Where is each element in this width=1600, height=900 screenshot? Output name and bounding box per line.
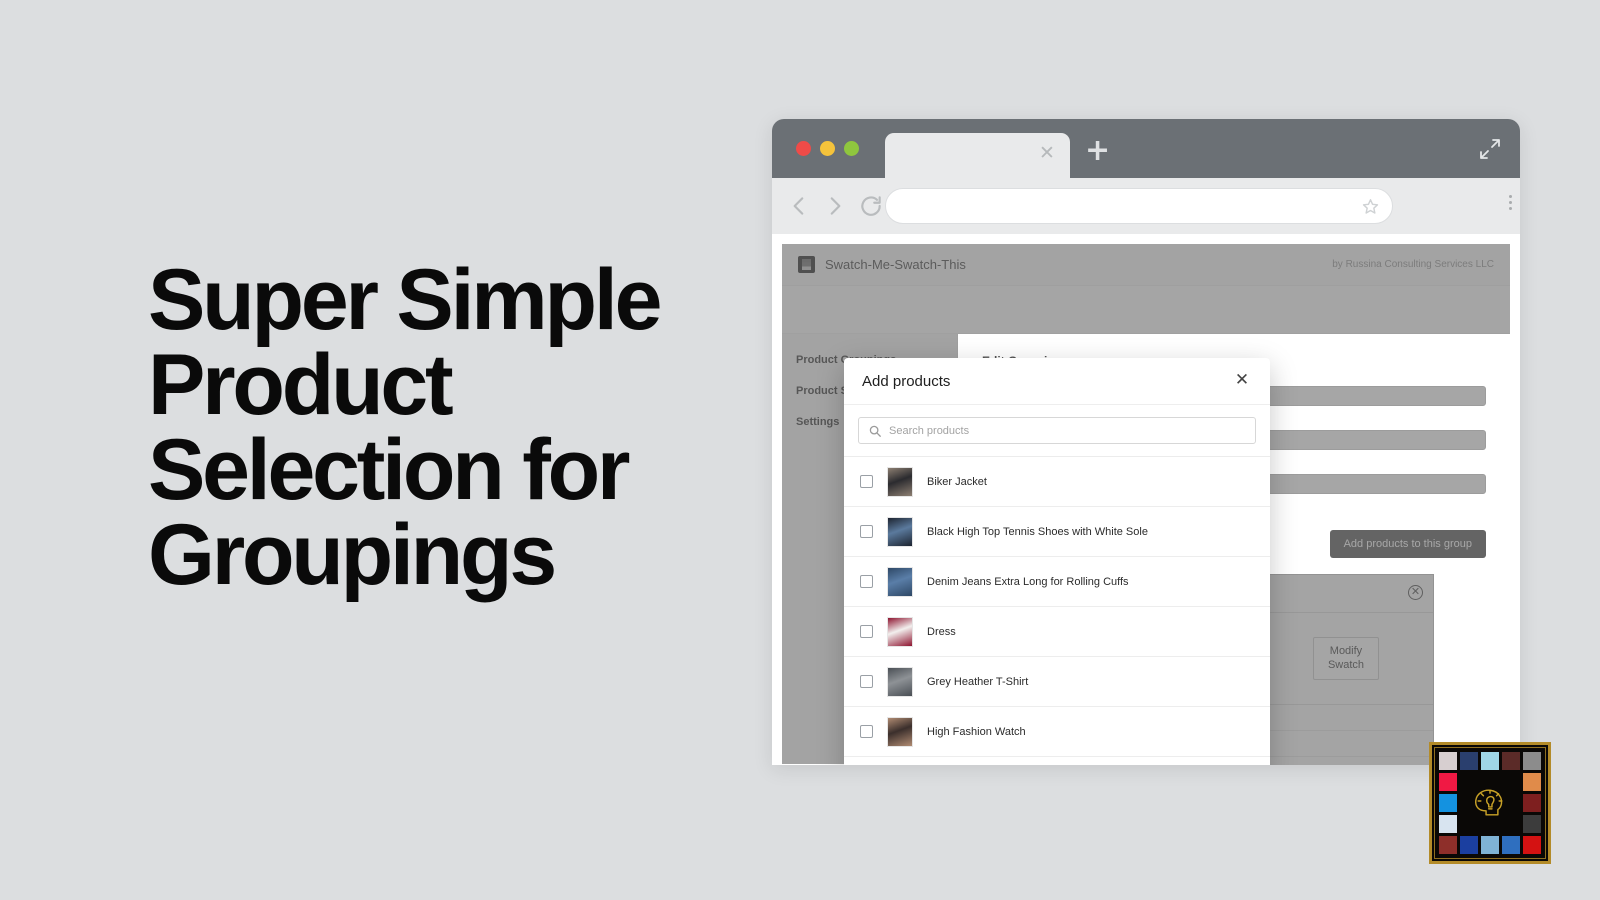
product-checkbox[interactable] xyxy=(860,575,873,588)
thumb-art-5 xyxy=(888,718,912,746)
badge-swatch xyxy=(1439,773,1457,791)
modal-title: Add products xyxy=(862,373,950,390)
page-title: Super Simple Product Selection for Group… xyxy=(148,258,768,599)
product-thumbnail xyxy=(887,567,913,597)
list-item[interactable]: Grey Heather T-Shirt xyxy=(844,657,1270,707)
back-icon[interactable] xyxy=(786,193,812,219)
browser-titlebar: ✕ + xyxy=(772,119,1520,178)
search-box[interactable] xyxy=(858,417,1256,444)
badge-swatch xyxy=(1481,836,1499,854)
badge-swatch xyxy=(1439,815,1457,833)
badge-swatch xyxy=(1523,773,1541,791)
forward-icon[interactable] xyxy=(822,193,848,219)
badge-swatch xyxy=(1523,836,1541,854)
badge-swatch xyxy=(1523,794,1541,812)
web-app: Swatch-Me-Swatch-This by Russina Consult… xyxy=(782,244,1510,765)
star-icon[interactable] xyxy=(1361,197,1380,216)
product-thumbnail xyxy=(887,467,913,497)
product-checkbox[interactable] xyxy=(860,525,873,538)
product-name: Black High Top Tennis Shoes with White S… xyxy=(927,526,1148,538)
product-checkbox[interactable] xyxy=(860,625,873,638)
minimize-window-button[interactable] xyxy=(820,141,835,156)
search-icon xyxy=(868,424,882,438)
product-thumbnail xyxy=(887,667,913,697)
list-item[interactable]: Dress xyxy=(844,607,1270,657)
head-lightbulb-icon xyxy=(1460,773,1520,833)
browser-window: ✕ + xyxy=(772,119,1520,765)
badge-swatch xyxy=(1439,752,1457,770)
expand-diagonal-icon[interactable] xyxy=(1478,137,1502,161)
thumb-art-2 xyxy=(888,568,912,596)
product-thumbnail xyxy=(887,717,913,747)
kebab-menu-icon[interactable] xyxy=(1509,195,1512,210)
product-list[interactable]: Biker Jacket Black High Top Tennis Shoes… xyxy=(844,456,1270,765)
badge-swatch xyxy=(1502,836,1520,854)
product-checkbox[interactable] xyxy=(860,475,873,488)
badge-swatch-grid xyxy=(1439,752,1541,854)
product-name: Dress xyxy=(927,626,956,638)
badge-swatch xyxy=(1439,794,1457,812)
product-checkbox[interactable] xyxy=(860,675,873,688)
product-thumbnail xyxy=(887,517,913,547)
list-item[interactable] xyxy=(844,757,1270,765)
product-checkbox[interactable] xyxy=(860,725,873,738)
list-item[interactable]: High Fashion Watch xyxy=(844,707,1270,757)
tab-close-icon[interactable]: ✕ xyxy=(1038,145,1056,163)
close-icon[interactable]: ✕ xyxy=(1232,371,1252,391)
close-window-button[interactable] xyxy=(796,141,811,156)
product-name: High Fashion Watch xyxy=(927,726,1026,738)
badge-swatch xyxy=(1439,836,1457,854)
thumb-art-1 xyxy=(888,518,912,546)
maximize-window-button[interactable] xyxy=(844,141,859,156)
address-input[interactable] xyxy=(886,189,1392,223)
modal-overlay: Add products ✕ xyxy=(782,244,1510,765)
brand-badge xyxy=(1429,742,1551,864)
list-item[interactable]: Biker Jacket xyxy=(844,457,1270,507)
page-root: Super Simple Product Selection for Group… xyxy=(0,0,1600,900)
add-products-modal: Add products ✕ xyxy=(844,358,1270,765)
badge-swatch xyxy=(1460,836,1478,854)
product-thumbnail xyxy=(887,617,913,647)
badge-swatch xyxy=(1502,752,1520,770)
modal-header: Add products ✕ xyxy=(844,358,1270,405)
list-item[interactable]: Denim Jeans Extra Long for Rolling Cuffs xyxy=(844,557,1270,607)
new-tab-button[interactable]: + xyxy=(1085,140,1109,164)
thumb-art-3 xyxy=(888,618,912,646)
browser-tab[interactable]: ✕ xyxy=(885,133,1070,179)
browser-viewport: Swatch-Me-Swatch-This by Russina Consult… xyxy=(772,234,1520,765)
modal-search-section xyxy=(844,405,1270,456)
badge-swatch xyxy=(1523,815,1541,833)
reload-icon[interactable] xyxy=(858,193,884,219)
thumb-art-0 xyxy=(888,468,912,496)
badge-swatch xyxy=(1523,752,1541,770)
window-controls[interactable] xyxy=(796,141,859,156)
product-name: Denim Jeans Extra Long for Rolling Cuffs xyxy=(927,576,1129,588)
list-item[interactable]: Black High Top Tennis Shoes with White S… xyxy=(844,507,1270,557)
product-name: Biker Jacket xyxy=(927,476,987,488)
search-input[interactable] xyxy=(859,418,1255,443)
thumb-art-4 xyxy=(888,668,912,696)
badge-swatch xyxy=(1460,752,1478,770)
browser-toolbar xyxy=(772,178,1520,234)
badge-swatch xyxy=(1481,752,1499,770)
address-bar[interactable] xyxy=(885,188,1393,224)
product-name: Grey Heather T-Shirt xyxy=(927,676,1028,688)
